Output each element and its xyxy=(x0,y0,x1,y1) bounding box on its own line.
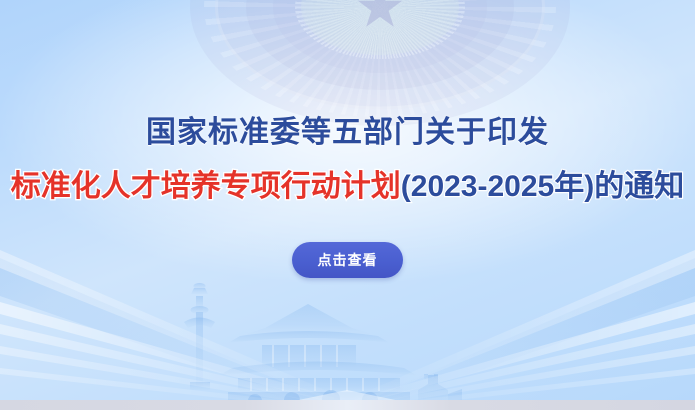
headline-period-suffix: (2023-2025年)的通知 xyxy=(401,170,684,203)
gate-building xyxy=(218,304,418,410)
headline-block: 国家标准委等五部门关于印发 标准化人才培养专项行动计划(2023-2025年)的… xyxy=(0,118,695,202)
notice-banner: 国家标准委等五部门关于印发 标准化人才培养专项行动计划(2023-2025年)的… xyxy=(0,0,695,410)
cta-container: 点击查看 xyxy=(0,242,695,278)
headline-plan-name: 标准化人才培养专项行动计划 xyxy=(11,170,401,203)
national-emblem-star-icon xyxy=(190,0,570,132)
view-notice-button[interactable]: 点击查看 xyxy=(292,242,403,278)
bottom-strip xyxy=(0,400,695,410)
huabiao-column-icon xyxy=(184,283,215,390)
tiananmen-gate-icon xyxy=(0,270,695,410)
headline-line-1: 国家标准委等五部门关于印发 xyxy=(0,118,695,148)
star-icon xyxy=(357,0,403,30)
headline-line-2: 标准化人才培养专项行动计划(2023-2025年)的通知 xyxy=(0,172,695,202)
